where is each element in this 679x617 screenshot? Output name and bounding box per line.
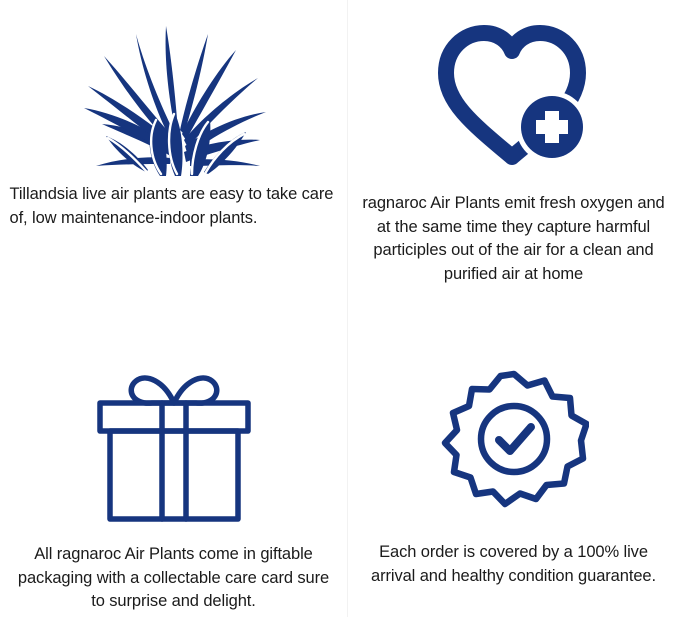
verified-badge-icon (439, 368, 589, 520)
feature-caption-care: Tillandsia live air plants are easy to t… (4, 183, 344, 230)
feature-card-giftable: All ragnaroc Air Plants come in giftable… (0, 309, 348, 617)
feature-grid: Tillandsia live air plants are easy to t… (0, 0, 679, 617)
feature-caption-oxygen: ragnaroc Air Plants emit fresh oxygen an… (352, 192, 675, 286)
feature-card-care: Tillandsia live air plants are easy to t… (0, 0, 348, 309)
heart-plus-icon-wrap (348, 0, 679, 186)
air-plant-icon (74, 8, 274, 176)
feature-card-oxygen: ragnaroc Air Plants emit fresh oxygen an… (348, 0, 679, 309)
feature-caption-guarantee: Each order is covered by a 100% live arr… (352, 541, 675, 588)
gift-box-icon (90, 367, 258, 525)
feature-caption-giftable: All ragnaroc Air Plants come in giftable… (4, 543, 344, 614)
gift-box-icon-wrap (0, 309, 347, 541)
verified-badge-icon-wrap (348, 309, 679, 539)
heart-plus-icon (434, 21, 594, 171)
air-plant-icon-wrap (0, 0, 347, 182)
feature-card-guarantee: Each order is covered by a 100% live arr… (348, 309, 679, 617)
